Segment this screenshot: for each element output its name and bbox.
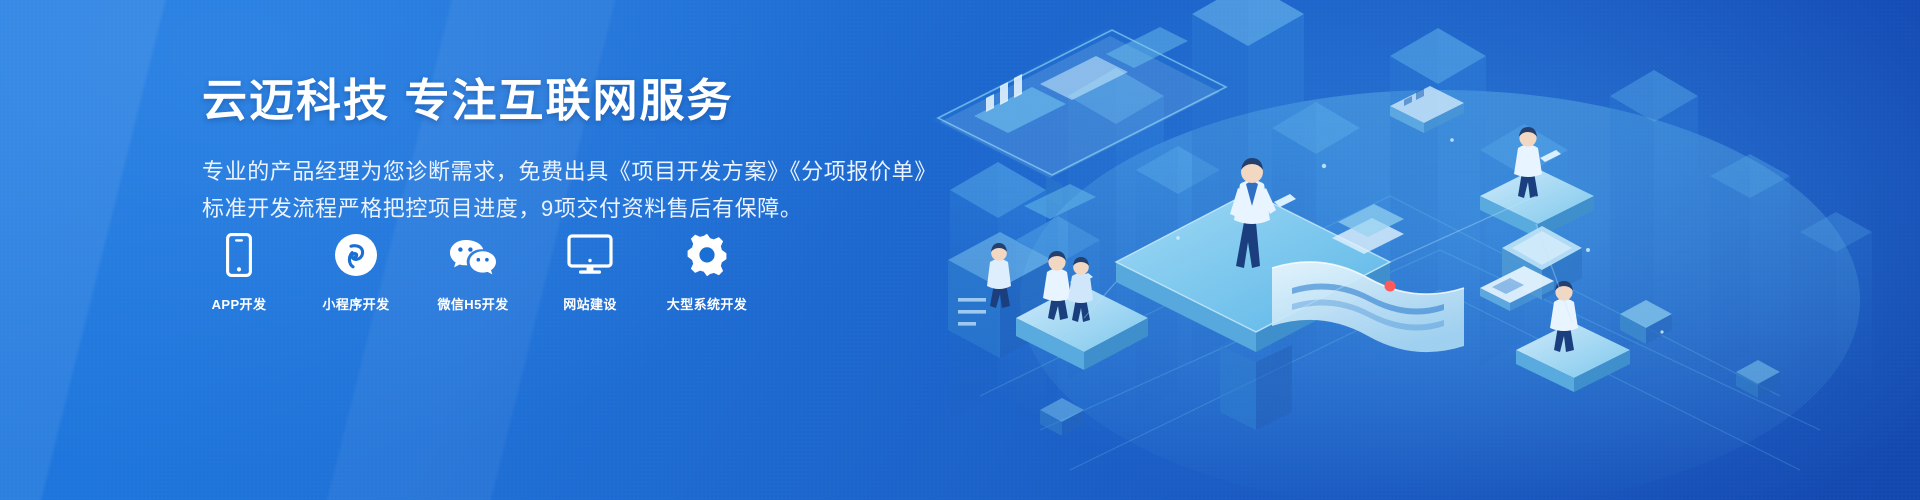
- service-label: 小程序开发: [322, 294, 389, 313]
- hero-subtitle: 专业的产品经理为您诊断需求，免费出具《项目开发方案》《分项报价单》 标准开发流程…: [202, 153, 937, 229]
- service-item-app[interactable]: APP开发: [203, 232, 275, 313]
- gear-icon: [685, 232, 729, 278]
- mobile-phone-icon: [226, 232, 252, 278]
- isometric-business-tech-illustration: [920, 0, 1920, 500]
- service-list: APP开发 小程序开发: [203, 232, 743, 313]
- subtitle-line-1: 专业的产品经理为您诊断需求，免费出具《项目开发方案》《分项报价单》: [202, 153, 937, 191]
- mini-program-icon: [334, 232, 378, 278]
- service-label: 网站建设: [563, 294, 617, 313]
- service-item-large-system[interactable]: 大型系统开发: [671, 232, 743, 313]
- service-item-mini-program[interactable]: 小程序开发: [320, 232, 392, 313]
- service-item-website[interactable]: 网站建设: [554, 232, 626, 313]
- hero-copy: 云迈科技 专注互联网服务 专业的产品经理为您诊断需求，免费出具《项目开发方案》《…: [202, 72, 937, 228]
- hero-banner: 云迈科技 专注互联网服务 专业的产品经理为您诊断需求，免费出具《项目开发方案》《…: [0, 0, 1920, 500]
- service-label: APP开发: [212, 294, 267, 313]
- service-item-wechat-h5[interactable]: 微信H5开发: [437, 232, 509, 313]
- monitor-icon: [567, 232, 613, 278]
- service-label: 大型系统开发: [667, 294, 747, 313]
- wechat-icon: [447, 232, 499, 278]
- page-title: 云迈科技 专注互联网服务: [202, 72, 937, 130]
- alert-dot: [1385, 281, 1396, 292]
- subtitle-line-2: 标准开发流程严格把控项目进度，9项交付资料售后有保障。: [202, 190, 937, 228]
- service-label: 微信H5开发: [437, 294, 508, 313]
